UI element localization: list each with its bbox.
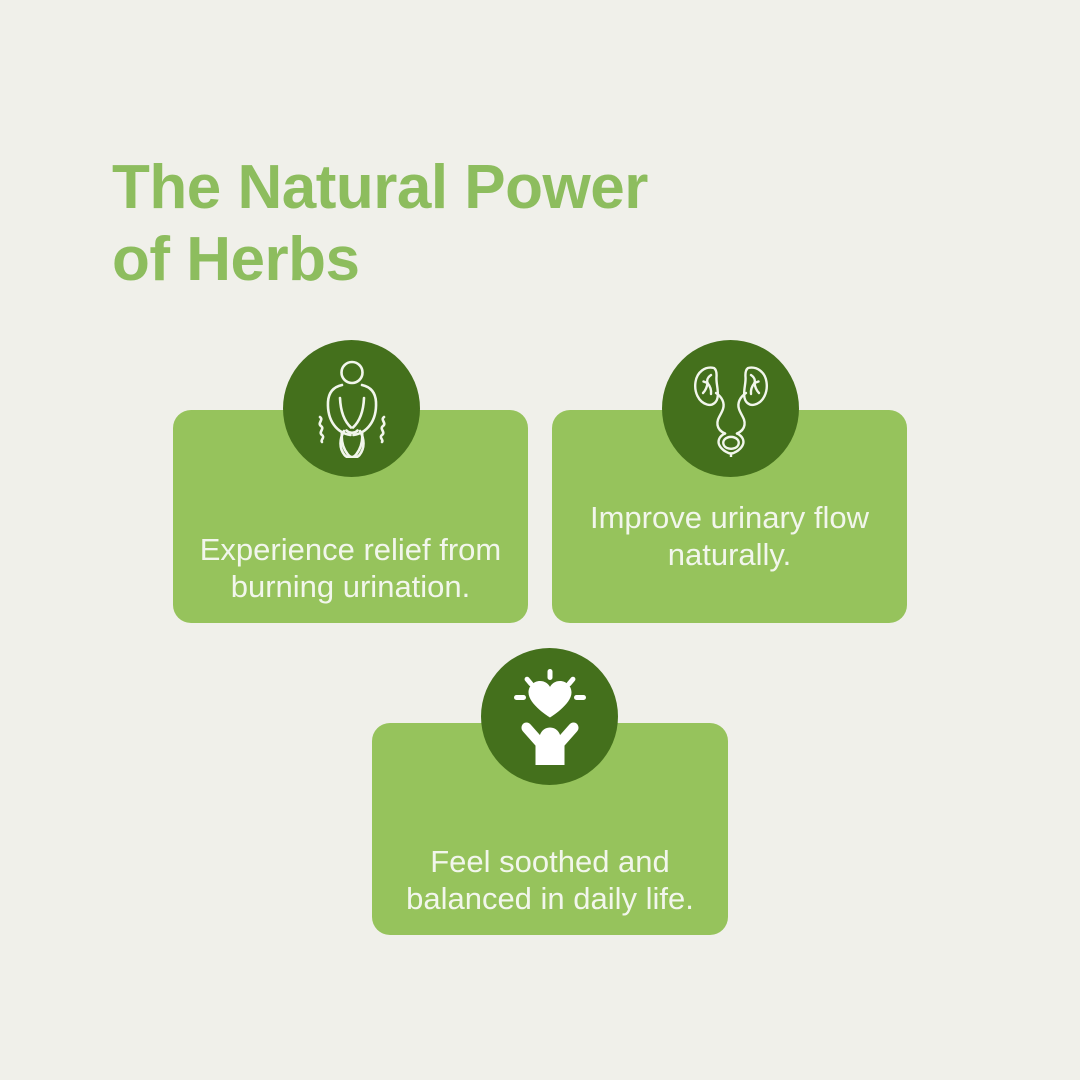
page-title: The Natural Power of Herbs [112, 152, 752, 296]
person-heart-wellbeing-icon [504, 669, 596, 765]
icon-badge-balance [481, 648, 618, 785]
benefit-card-text: Experience relief from burning urination… [173, 531, 528, 623]
person-discomfort-icon [306, 360, 398, 458]
benefit-card-text: Feel soothed and balanced in daily life. [372, 843, 728, 935]
icon-badge-flow [662, 340, 799, 477]
benefit-card-text: Improve urinary flow naturally. [552, 499, 907, 623]
urinary-system-icon [686, 361, 776, 457]
icon-badge-relief [283, 340, 420, 477]
poster-canvas: The Natural Power of Herbs Experience re… [0, 0, 1080, 1080]
